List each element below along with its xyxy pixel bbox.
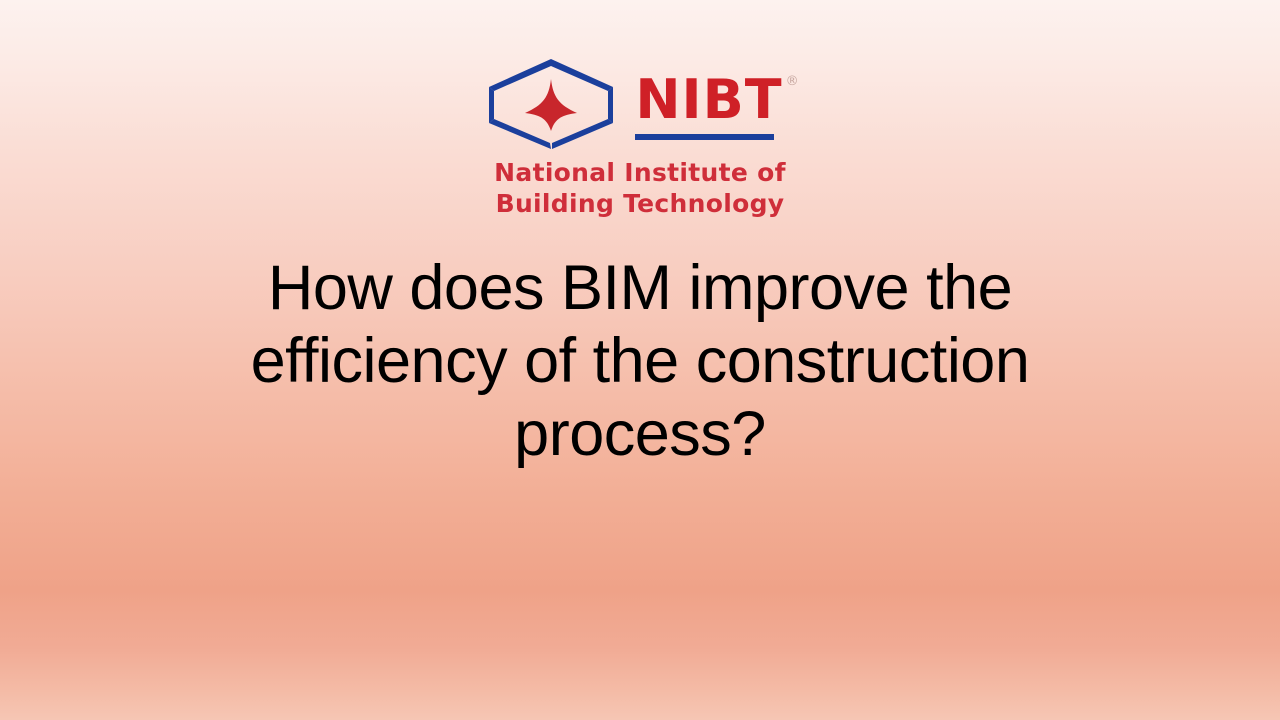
nibt-subtitle-line-1: National Institute of: [494, 158, 786, 189]
nibt-hexagon-star-logo-icon: [481, 57, 621, 149]
nibt-wordmark-text: NIBT: [635, 73, 782, 127]
nibt-wordmark: NIBT ®: [635, 67, 798, 140]
nibt-logo-block: NIBT ® National Institute of Building Te…: [0, 58, 1280, 219]
slide-canvas: NIBT ® National Institute of Building Te…: [0, 0, 1280, 720]
nibt-text-row: NIBT ®: [635, 73, 798, 127]
logo-top-row: NIBT ®: [481, 58, 798, 148]
nibt-subtitle: National Institute of Building Technolog…: [494, 158, 786, 219]
nibt-underline-bar: [635, 134, 774, 140]
slide-title: How does BIM improve the efficiency of t…: [220, 252, 1060, 471]
nibt-subtitle-line-2: Building Technology: [494, 189, 786, 220]
registered-trademark-icon: ®: [786, 75, 799, 88]
